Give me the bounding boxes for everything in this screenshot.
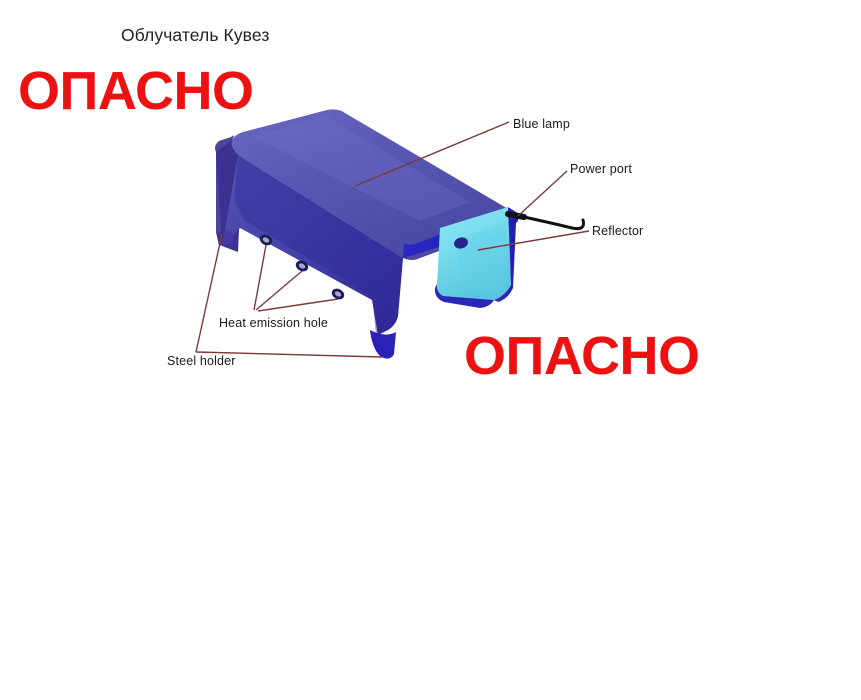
product-diagram: Blue lamp Power port Reflector Heat emis… — [0, 0, 861, 400]
product-illustration — [0, 0, 861, 400]
leader-line-power-port — [518, 171, 567, 216]
callout-label-blue-lamp: Blue lamp — [513, 117, 570, 131]
power-cable-connector — [508, 214, 524, 217]
leader-line-heat-hole-1 — [254, 245, 266, 310]
callout-label-heat-emission-hole: Heat emission hole — [219, 316, 328, 330]
callout-label-power-port: Power port — [570, 162, 632, 176]
power-cable-lead — [524, 217, 584, 229]
callout-label-steel-holder: Steel holder — [167, 354, 236, 368]
steel-holder-bottom-foot — [370, 330, 396, 359]
leader-line-heat-hole-2 — [256, 271, 302, 310]
leader-line-steel-holder-left — [196, 234, 222, 352]
page-canvas: Облучатель Кувез ОПАСНО ОПАСНО — [0, 0, 861, 700]
power-cable — [508, 214, 584, 229]
leader-line-heat-hole-3 — [258, 299, 338, 311]
callout-label-reflector: Reflector — [592, 224, 643, 238]
